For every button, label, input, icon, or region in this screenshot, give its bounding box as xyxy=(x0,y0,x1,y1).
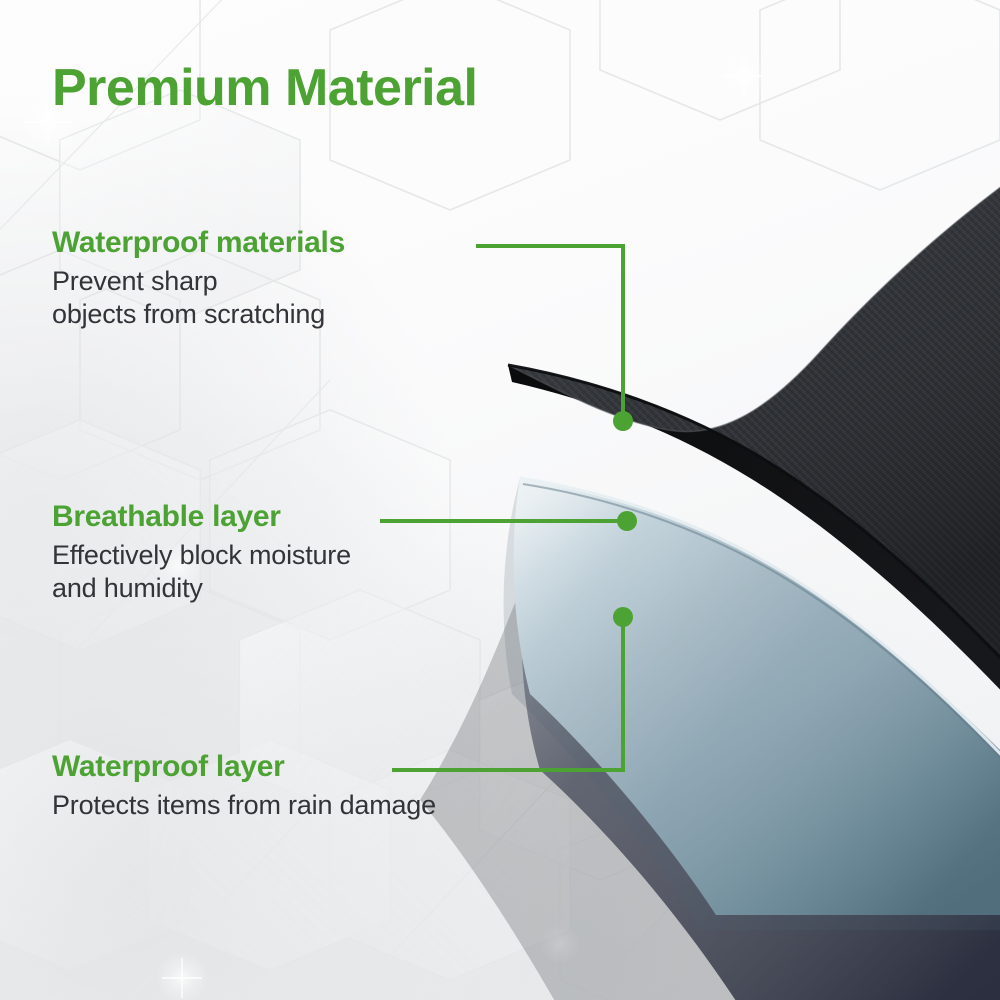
callout-title: Waterproof materials xyxy=(52,226,345,260)
callout-body: Protects items from rain damage xyxy=(52,789,436,822)
leader-dot-1 xyxy=(613,411,633,431)
page-title: Premium Material xyxy=(52,58,478,118)
blue-breathable-middle-layer xyxy=(504,478,1000,930)
carbon-fiber-top-layer xyxy=(508,180,1000,700)
callout-waterproof-materials: Waterproof materials Prevent sharp objec… xyxy=(52,226,345,332)
callout-breathable-layer: Breathable layer Effectively block moist… xyxy=(52,500,351,606)
slate-waterproof-bottom-layer xyxy=(420,573,1000,1000)
callout-body: Effectively block moisture and humidity xyxy=(52,539,351,606)
leader-dot-3 xyxy=(613,607,633,627)
callout-title: Waterproof layer xyxy=(52,750,436,784)
leader-line-3 xyxy=(394,620,623,770)
leader-dot-2 xyxy=(617,511,637,531)
infographic-canvas: Premium Material Waterproof materials Pr… xyxy=(0,0,1000,1000)
callout-title: Breathable layer xyxy=(52,500,351,534)
callout-waterproof-layer: Waterproof layer Protects items from rai… xyxy=(52,750,436,822)
leader-line-1 xyxy=(478,246,623,420)
callout-body: Prevent sharp objects from scratching xyxy=(52,265,345,332)
